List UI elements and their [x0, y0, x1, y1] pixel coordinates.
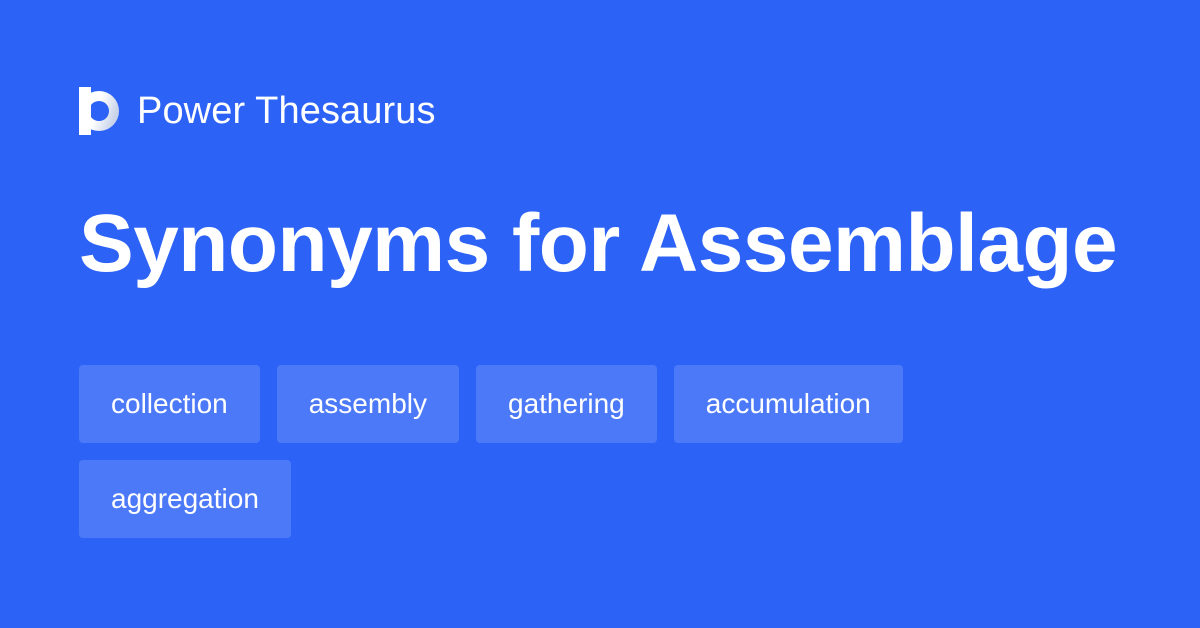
share-card: Power Thesaurus Synonyms for Assemblage … — [0, 0, 1200, 628]
page-title: Synonyms for Assemblage — [79, 196, 1139, 292]
synonym-chip[interactable]: aggregation — [79, 460, 291, 538]
power-thesaurus-b-logo-icon — [79, 87, 123, 135]
synonym-chip[interactable]: gathering — [476, 365, 657, 443]
brand-name: Power Thesaurus — [137, 92, 436, 130]
brand-logo[interactable]: Power Thesaurus — [79, 84, 436, 138]
synonym-chip[interactable]: assembly — [277, 365, 459, 443]
synonym-chip[interactable]: accumulation — [674, 365, 903, 443]
synonym-chip-list: collection assembly gathering accumulati… — [79, 365, 1129, 538]
synonym-chip[interactable]: collection — [79, 365, 260, 443]
